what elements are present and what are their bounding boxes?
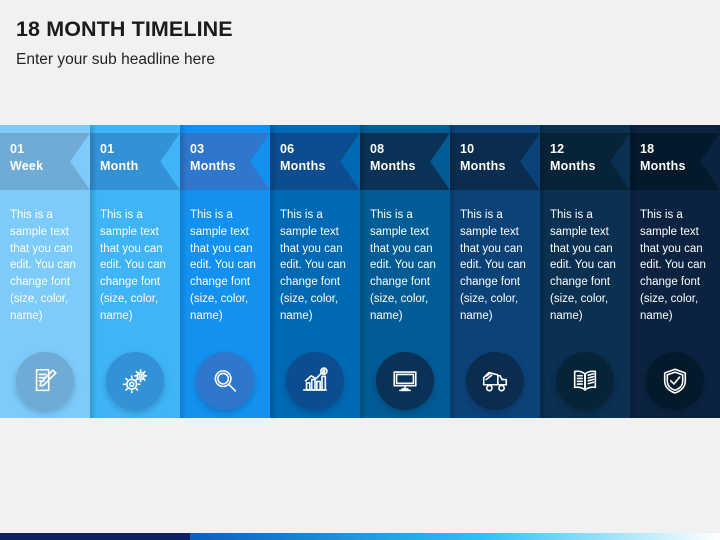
page-title: 18 MONTH TIMELINE	[16, 16, 616, 42]
bottom-bar-gradient-segment	[190, 533, 720, 540]
timeline-column[interactable]: 06MonthsThis is a sample text that you c…	[270, 125, 360, 418]
column-unit: Months	[550, 158, 596, 175]
timeline-column[interactable]: 03MonthsThis is a sample text that you c…	[180, 125, 270, 418]
bar-chart-growth-icon[interactable]	[286, 352, 344, 410]
header-block: 18 MONTH TIMELINE Enter your sub headlin…	[16, 16, 616, 70]
column-header-text: 01Week	[10, 141, 43, 175]
timeline-strip: 01WeekThis is a sample text that you can…	[0, 125, 720, 418]
column-unit: Months	[370, 158, 416, 175]
column-number: 10	[460, 141, 506, 158]
column-unit: Months	[640, 158, 686, 175]
timeline-column[interactable]: 08MonthsThis is a sample text that you c…	[360, 125, 450, 418]
column-body-text: This is a sample text that you can edit.…	[550, 207, 622, 325]
magnifier-icon[interactable]	[196, 352, 254, 410]
timeline-column[interactable]: 01MonthThis is a sample text that you ca…	[90, 125, 180, 418]
column-header-text: 12Months	[550, 141, 596, 175]
bottom-bar-navy-segment	[0, 533, 190, 540]
column-unit: Months	[280, 158, 326, 175]
column-number: 01	[10, 141, 43, 158]
column-body-text: This is a sample text that you can edit.…	[100, 207, 172, 325]
column-header-text: 01Month	[100, 141, 138, 175]
dump-truck-icon[interactable]	[466, 352, 524, 410]
gears-icon[interactable]	[106, 352, 164, 410]
open-book-icon[interactable]	[556, 352, 614, 410]
column-body-text: This is a sample text that you can edit.…	[640, 207, 712, 325]
column-header-text: 03Months	[190, 141, 236, 175]
slide-canvas: 18 MONTH TIMELINE Enter your sub headlin…	[0, 0, 720, 540]
bottom-decorative-bar	[0, 533, 720, 540]
column-body-text: This is a sample text that you can edit.…	[370, 207, 442, 325]
column-header-text: 06Months	[280, 141, 326, 175]
timeline-column[interactable]: 01WeekThis is a sample text that you can…	[0, 125, 90, 418]
page-subtitle: Enter your sub headline here	[16, 50, 616, 70]
column-body-text: This is a sample text that you can edit.…	[460, 207, 532, 325]
column-unit: Months	[190, 158, 236, 175]
column-header-text: 10Months	[460, 141, 506, 175]
column-body-text: This is a sample text that you can edit.…	[10, 207, 82, 325]
monitor-icon[interactable]	[376, 352, 434, 410]
column-number: 12	[550, 141, 596, 158]
column-header-text: 08Months	[370, 141, 416, 175]
column-unit: Week	[10, 158, 43, 175]
shield-check-icon[interactable]	[646, 352, 704, 410]
column-number: 08	[370, 141, 416, 158]
column-body-text: This is a sample text that you can edit.…	[190, 207, 262, 325]
column-header-text: 18Months	[640, 141, 686, 175]
timeline-column[interactable]: 10MonthsThis is a sample text that you c…	[450, 125, 540, 418]
column-unit: Month	[100, 158, 138, 175]
timeline-column[interactable]: 18MonthsThis is a sample text that you c…	[630, 125, 720, 418]
timeline-column[interactable]: 12MonthsThis is a sample text that you c…	[540, 125, 630, 418]
column-number: 01	[100, 141, 138, 158]
column-body-text: This is a sample text that you can edit.…	[280, 207, 352, 325]
column-unit: Months	[460, 158, 506, 175]
column-number: 03	[190, 141, 236, 158]
document-pencil-icon[interactable]	[16, 352, 74, 410]
column-number: 06	[280, 141, 326, 158]
column-number: 18	[640, 141, 686, 158]
